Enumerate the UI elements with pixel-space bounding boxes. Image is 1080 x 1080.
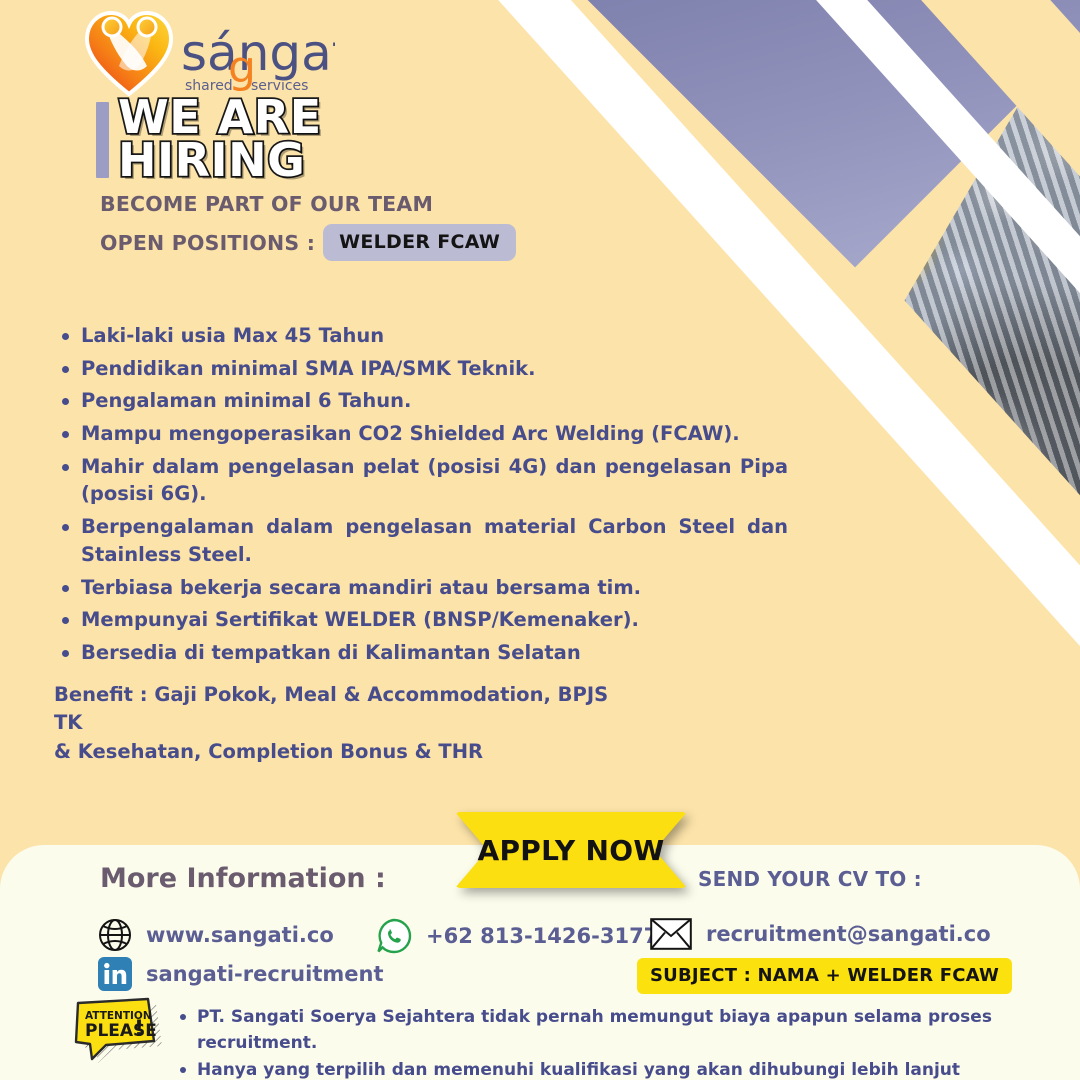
disclaimer-list: PT. Sangati Soerya Sejahtera tidak perna…	[180, 1005, 1010, 1080]
list-item: Mahir dalam pengelasan pelat (posisi 4G)…	[62, 453, 788, 508]
list-item: Berpengalaman dalam pengelasan material …	[62, 513, 788, 568]
whatsapp-icon	[376, 918, 412, 954]
linkedin-icon	[98, 957, 132, 991]
sangati-logo: sángati shared services g	[85, 10, 335, 98]
open-positions-row: OPEN POSITIONS : WELDER FCAW	[100, 224, 516, 261]
attention-badge-exclaim: !	[134, 1017, 144, 1042]
benefit-text: Benefit : Gaji Pokok, Meal & Accommodati…	[54, 681, 614, 766]
open-positions-label: OPEN POSITIONS :	[100, 231, 315, 255]
contact-whatsapp[interactable]: +62 813-1426-3177	[376, 918, 658, 954]
list-item: Bersedia di tempatkan di Kalimantan Sela…	[62, 639, 788, 667]
disclaimer-text: PT. Sangati Soerya Sejahtera tidak perna…	[197, 1005, 1010, 1056]
apply-now-label: APPLY NOW	[455, 812, 687, 888]
bullet-icon	[62, 333, 69, 340]
requirement-text: Bersedia di tempatkan di Kalimantan Sela…	[81, 639, 788, 667]
attention-please-badge: ATTENTION PLEASE !	[72, 997, 168, 1065]
send-cv-title: SEND YOUR CV TO :	[698, 867, 922, 891]
attention-badge-line2: PLEASE	[85, 1021, 157, 1041]
contact-email[interactable]: recruitment@sangati.co	[650, 918, 991, 950]
logo-g-accent: g	[228, 42, 256, 93]
bullet-icon	[62, 431, 69, 438]
sangati-logo-svg: sángati shared services g	[85, 10, 335, 98]
bullet-icon	[62, 398, 69, 405]
website-text: www.sangati.co	[146, 923, 334, 947]
bullet-icon	[62, 366, 69, 373]
requirement-text: Terbiasa bekerja secara mandiri atau ber…	[81, 574, 788, 602]
requirement-text: Laki-laki usia Max 45 Tahun	[81, 322, 788, 350]
contact-linkedin[interactable]: sangati-recruitment	[98, 957, 383, 991]
list-item: Mempunyai Sertifikat WELDER (BNSP/Kemena…	[62, 606, 788, 634]
requirement-text: Berpengalaman dalam pengelasan material …	[81, 513, 788, 568]
page-title: WE ARE HIRING	[118, 96, 556, 182]
bullet-icon	[180, 1014, 186, 1020]
requirement-text: Pendidikan minimal SMA IPA/SMK Teknik.	[81, 355, 788, 383]
disclaimer-text: Hanya yang terpilih dan memenuhi kualifi…	[197, 1058, 960, 1080]
email-text: recruitment@sangati.co	[706, 922, 991, 946]
logo-wordmark: sángati	[181, 24, 335, 82]
list-item: Terbiasa bekerja secara mandiri atau ber…	[62, 574, 788, 602]
requirement-text: Mempunyai Sertifikat WELDER (BNSP/Kemena…	[81, 606, 788, 634]
linkedin-text: sangati-recruitment	[146, 962, 383, 986]
bullet-icon	[180, 1067, 186, 1073]
requirements-list: Laki-laki usia Max 45 Tahun Pendidikan m…	[62, 322, 788, 672]
envelope-icon	[650, 918, 692, 950]
headline-block: WE ARE HIRING	[96, 96, 556, 182]
globe-icon	[98, 918, 132, 952]
subject-badge: SUBJECT : NAMA + WELDER FCAW	[637, 958, 1012, 994]
bullet-icon	[62, 585, 69, 592]
whatsapp-text: +62 813-1426-3177	[426, 924, 658, 948]
list-item: Laki-laki usia Max 45 Tahun	[62, 322, 788, 350]
poster-canvas: sángati shared services g WE ARE HIRING …	[0, 0, 1080, 1080]
list-item: Pengalaman minimal 6 Tahun.	[62, 387, 788, 415]
list-item: Pendidikan minimal SMA IPA/SMK Teknik.	[62, 355, 788, 383]
subheadline: BECOME PART OF OUR TEAM	[100, 192, 433, 216]
heart-icon	[87, 13, 171, 94]
requirement-text: Pengalaman minimal 6 Tahun.	[81, 387, 788, 415]
requirement-text: Mampu mengoperasikan CO2 Shielded Arc We…	[81, 420, 788, 448]
bullet-icon	[62, 464, 69, 471]
bullet-icon	[62, 524, 69, 531]
bullet-icon	[62, 650, 69, 657]
requirement-text: Mahir dalam pengelasan pelat (posisi 4G)…	[81, 453, 788, 508]
more-information-title: More Information :	[100, 863, 386, 894]
attention-badge-icon: ATTENTION PLEASE !	[72, 997, 168, 1065]
list-item: Mampu mengoperasikan CO2 Shielded Arc We…	[62, 420, 788, 448]
list-item: PT. Sangati Soerya Sejahtera tidak perna…	[180, 1005, 1010, 1056]
accent-bar	[96, 102, 109, 178]
apply-now-button[interactable]: APPLY NOW	[455, 812, 687, 888]
bullet-icon	[62, 617, 69, 624]
list-item: Hanya yang terpilih dan memenuhi kualifi…	[180, 1058, 1010, 1080]
position-badge: WELDER FCAW	[323, 224, 516, 261]
contact-website[interactable]: www.sangati.co	[98, 918, 334, 952]
